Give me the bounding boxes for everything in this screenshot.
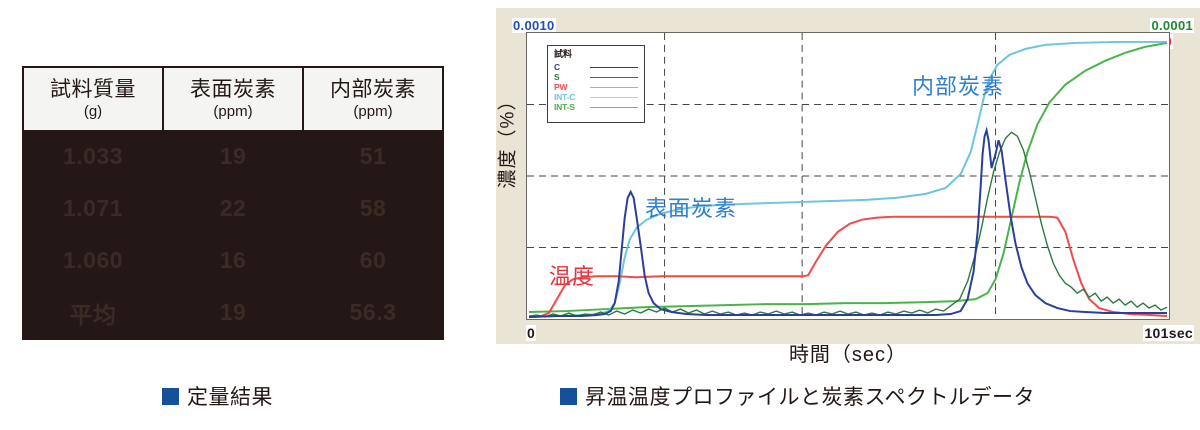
table-row: 1.033 19 51 [23,131,443,183]
caption-left-text: 定量結果 [187,381,273,411]
legend-label-int-c: INT-C [554,93,588,102]
plot-area: 試料 C S PW INT-C INT-S [526,32,1170,320]
cell-sample-mass: 1.033 [23,131,163,183]
table-header-sample-mass: 試料質量 (g) [23,67,163,131]
quantitative-results-table: 試料質量 (g) 表面炭素 (ppm) 内部炭素 (ppm) 1.033 [22,66,444,340]
cell-surface-carbon: 16 [163,235,303,287]
series-c [529,130,1167,317]
table-row: 1.071 22 58 [23,183,443,235]
table-header-internal-carbon: 内部炭素 (ppm) [303,67,443,131]
legend-swatch-int-c-icon [590,97,638,98]
caption-bullet-square-icon [162,388,179,405]
spectrum-chart-panel: 濃度（%） 時間（sec） 0.0010 0.0001 500 0 101sec [496,8,1200,344]
legend-item-c: C [554,62,639,72]
quantitative-results-table-panel: 試料質量 (g) 表面炭素 (ppm) 内部炭素 (ppm) 1.033 [22,66,444,340]
chart-legend: 試料 C S PW INT-C INT-S [547,45,645,123]
caption-bullet-square-icon [560,388,577,405]
annotation-surface-carbon: 表面炭素 [645,191,737,223]
cell-internal-carbon: 58 [303,183,443,235]
legend-swatch-int-s-icon [590,107,638,108]
cell-surface-carbon: 19 [163,131,303,183]
x-axis-max-label: 101sec [1143,325,1194,341]
legend-item-int-c: INT-C [554,92,639,102]
header-main-label: 内部炭素 [306,78,440,102]
table-header-surface-carbon: 表面炭素 (ppm) [163,67,303,131]
legend-label-c: C [554,63,588,72]
legend-swatch-pw-icon [590,87,638,88]
cell-sample-mass: 1.071 [23,183,163,235]
legend-swatch-c-icon [590,67,638,68]
table-row-average: 平均 19 56.3 [23,287,443,339]
cell-surface-carbon: 22 [163,183,303,235]
cell-internal-carbon: 51 [303,131,443,183]
caption-right-text: 昇温温度プロファイルと炭素スペクトルデータ [585,381,1035,411]
legend-title: 試料 [554,50,639,59]
annotation-temperature: 温度 [549,259,595,291]
header-unit-label: (g) [26,103,160,121]
legend-label-int-s: INT-S [554,103,588,112]
x-axis-label: 時間（sec） [496,338,1200,367]
header-unit-label: (ppm) [306,103,440,121]
legend-label-s: S [554,73,588,82]
legend-item-int-s: INT-S [554,102,639,112]
legend-item-s: S [554,72,639,82]
legend-item-pw: PW [554,82,639,92]
table-header-row: 試料質量 (g) 表面炭素 (ppm) 内部炭素 (ppm) [23,67,443,131]
cell-average-surface-carbon: 19 [163,287,303,339]
y-axis-label: 濃度（%） [493,80,520,200]
legend-swatch-s-icon [590,77,638,78]
header-unit-label: (ppm) [166,103,300,121]
cell-average-internal-carbon: 56.3 [303,287,443,339]
cell-internal-carbon: 60 [303,235,443,287]
series-pw [529,217,1167,317]
table-row: 1.060 16 60 [23,235,443,287]
annotation-internal-carbon: 内部炭素 [912,69,1004,101]
figure-root: 試料質量 (g) 表面炭素 (ppm) 内部炭素 (ppm) 1.033 [0,0,1200,430]
x-axis-min-label: 0 [526,325,536,341]
caption-left: 定量結果 [162,381,273,411]
y2-axis-max-label-green: 0.0001 [1150,18,1194,33]
y-axis-max-label: 0.0010 [512,18,556,33]
cell-sample-mass: 1.060 [23,235,163,287]
legend-label-pw: PW [554,83,588,92]
header-main-label: 表面炭素 [166,78,300,102]
header-main-label: 試料質量 [26,78,160,102]
caption-right: 昇温温度プロファイルと炭素スペクトルデータ [560,381,1035,411]
cell-average-label: 平均 [23,287,163,339]
